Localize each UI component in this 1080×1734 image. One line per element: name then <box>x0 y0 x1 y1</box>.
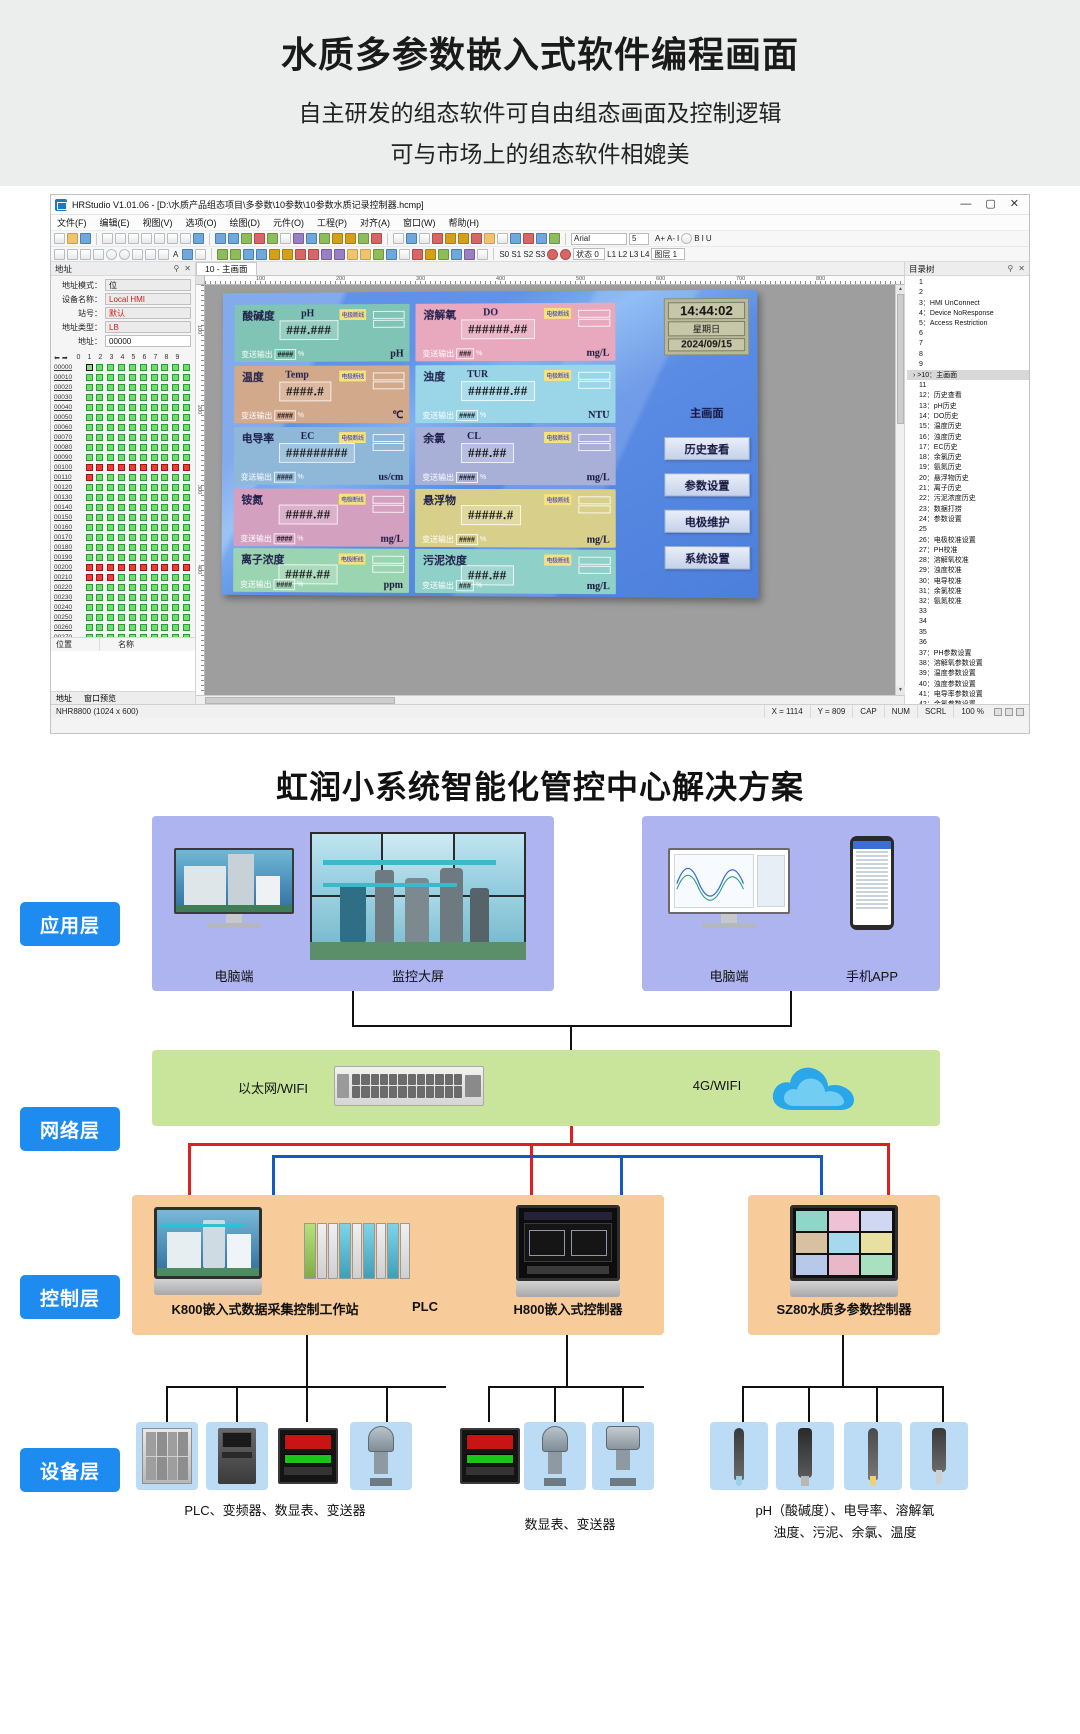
alarm-display-icon[interactable] <box>308 249 319 260</box>
grid-bit-cell[interactable] <box>127 623 138 632</box>
grid-bit-cell[interactable] <box>105 363 116 372</box>
grid-row[interactable]: 00020 <box>54 382 192 392</box>
grid-bit-cell[interactable] <box>181 473 192 482</box>
grid-bit-cell[interactable] <box>94 573 105 582</box>
tree-node[interactable]: 39：温度参数设置 <box>907 668 1029 678</box>
tree-node[interactable]: 28：溶解氧校准 <box>907 555 1029 565</box>
grid-bit-cell[interactable] <box>170 513 181 522</box>
tree-node[interactable]: 40：浊度参数设置 <box>907 679 1029 689</box>
grid-bit-cell[interactable] <box>94 413 105 422</box>
grid-row-label[interactable]: 00170 <box>54 534 84 541</box>
grid-bit-cell[interactable] <box>149 563 160 572</box>
grid-bit-cell[interactable] <box>127 373 138 382</box>
grid-bit-cell[interactable] <box>116 383 127 392</box>
tree-node[interactable]: 5：Access Restriction <box>907 318 1029 328</box>
pie-icon[interactable] <box>119 249 130 260</box>
grid-bit-cell[interactable] <box>138 433 149 442</box>
grid-bit-cell[interactable] <box>84 433 95 442</box>
grid-bit-cell[interactable] <box>84 363 95 372</box>
tree-node[interactable]: 17：EC历史 <box>907 442 1029 452</box>
maximize-icon[interactable]: ▢ <box>985 199 995 210</box>
grid-bit-cell[interactable] <box>105 543 116 552</box>
param-toggle-switch[interactable] <box>372 556 404 574</box>
grid-bit-cell[interactable] <box>94 623 105 632</box>
grid-bit-cell[interactable] <box>138 473 149 482</box>
grid-bit-cell[interactable] <box>84 403 95 412</box>
grid-bit-cell[interactable] <box>94 373 105 382</box>
grid-row[interactable]: 00130 <box>54 492 192 502</box>
macro-icon[interactable] <box>477 249 488 260</box>
italic2-button[interactable]: I <box>702 234 704 243</box>
grid-bit-cell[interactable] <box>138 373 149 382</box>
grid-bit-cell[interactable] <box>170 403 181 412</box>
grid-bit-cell[interactable] <box>149 533 160 542</box>
grid-bit-cell[interactable] <box>105 413 116 422</box>
grid-bit-cell[interactable] <box>149 453 160 462</box>
param-output-row[interactable]: 变送输出####% <box>240 533 303 544</box>
param-value-display[interactable]: ######.## <box>461 319 535 339</box>
grid-bit-cell[interactable] <box>149 393 160 402</box>
menu-help[interactable]: 帮助(H) <box>449 216 480 229</box>
bit-address-grid[interactable]: ⬅ ➡ 0123456789 0000000010000200003000040… <box>51 351 195 637</box>
grid-bit-cell[interactable] <box>149 513 160 522</box>
grid-bit-cell[interactable] <box>149 593 160 602</box>
grid-bit-cell[interactable] <box>84 593 95 602</box>
grid-bit-cell[interactable] <box>170 413 181 422</box>
field-value[interactable]: LB <box>105 321 191 333</box>
grid-bit-cell[interactable] <box>105 403 116 412</box>
grid-bit-cell[interactable] <box>170 613 181 622</box>
hmi-param-DO[interactable]: 溶解氧DO电极断线######.##mg/L变送输出###% <box>415 303 615 362</box>
grid-bit-cell[interactable] <box>116 503 127 512</box>
param-output-value[interactable]: ### <box>456 348 474 359</box>
tree-node[interactable]: 25 <box>907 524 1029 534</box>
grid-row-label[interactable]: 00260 <box>54 624 84 631</box>
tree-node[interactable]: 38：溶解氧参数设置 <box>907 658 1029 668</box>
grid-row-label[interactable]: 00080 <box>54 444 84 451</box>
zoom-out-icon[interactable] <box>994 708 1002 716</box>
align-right-icon[interactable] <box>241 233 252 244</box>
grid-bit-cell[interactable] <box>84 513 95 522</box>
param-toggle-switch[interactable] <box>578 557 610 575</box>
snap-icon[interactable] <box>510 233 521 244</box>
grid-bit-cell[interactable] <box>138 553 149 562</box>
grid-bit-cell[interactable] <box>138 453 149 462</box>
scroll-up-icon[interactable]: ▲ <box>896 285 905 294</box>
grid-bit-cell[interactable] <box>159 583 170 592</box>
hmi-param-CL[interactable]: 余氯CL电极断线###.##mg/L变送输出####% <box>415 427 615 485</box>
tree-node[interactable]: 27：PH校准 <box>907 545 1029 555</box>
grid-bit-cell[interactable] <box>170 573 181 582</box>
grid-row[interactable]: 00090 <box>54 452 192 462</box>
grid-row[interactable]: 00070 <box>54 432 192 442</box>
param-output-value[interactable]: #### <box>275 349 297 360</box>
tree-node[interactable]: 22：污泥浓度历史 <box>907 493 1029 503</box>
param-toggle-switch[interactable] <box>373 434 405 452</box>
tree-node[interactable]: 2 <box>907 287 1029 297</box>
rotate-icon[interactable] <box>293 233 304 244</box>
grid-row-label[interactable]: 00070 <box>54 434 84 441</box>
grid-row[interactable]: 00220 <box>54 582 192 592</box>
tree-node[interactable]: 16：浊度历史 <box>907 431 1029 441</box>
hmi-button-参数设置[interactable]: 参数设置 <box>664 473 750 496</box>
grid-row-label[interactable]: 00040 <box>54 404 84 411</box>
grid-bit-cell[interactable] <box>181 493 192 502</box>
grid-bit-cell[interactable] <box>94 493 105 502</box>
grid-row-label[interactable]: 00060 <box>54 424 84 431</box>
grid-icon[interactable] <box>497 233 508 244</box>
grid-bit-cell[interactable] <box>105 443 116 452</box>
cut-icon[interactable] <box>102 233 113 244</box>
main-toolbar[interactable]: Arial 5 A+ A- I B I U <box>51 231 1029 247</box>
grid-bit-cell[interactable] <box>159 563 170 572</box>
grid-bit-cell[interactable] <box>181 593 192 602</box>
tree-node[interactable]: 19：氨氮历史 <box>907 462 1029 472</box>
hmi-param-铵氮[interactable]: 铵氮电极断线####.##mg/L变送输出####% <box>233 489 409 547</box>
undo-icon[interactable] <box>141 233 152 244</box>
grid-bit-cell[interactable] <box>127 433 138 442</box>
grid-bit-cell[interactable] <box>84 613 95 622</box>
grid-row[interactable]: 00200 <box>54 562 192 572</box>
grid-bit-cell[interactable] <box>138 623 149 632</box>
font-size-select[interactable]: 5 <box>629 233 649 245</box>
grid-bit-cell[interactable] <box>138 513 149 522</box>
alarm-icon[interactable] <box>471 233 482 244</box>
grid-row[interactable]: 00190 <box>54 552 192 562</box>
grid-bit-cell[interactable] <box>105 613 116 622</box>
tab-address[interactable]: 地址 <box>56 693 72 704</box>
grid-bit-cell[interactable] <box>138 383 149 392</box>
grid-bit-cell[interactable] <box>127 453 138 462</box>
grid-row-label[interactable]: 00220 <box>54 584 84 591</box>
menu-draw[interactable]: 绘图(D) <box>230 216 261 229</box>
save-icon[interactable] <box>80 233 91 244</box>
tree-node[interactable]: 3：HMI UnConnect <box>907 298 1029 308</box>
tree-node[interactable]: 8 <box>907 349 1029 359</box>
grid-bit-cell[interactable] <box>94 433 105 442</box>
grid-bit-cell[interactable] <box>116 603 127 612</box>
param-value-display[interactable]: ###.## <box>461 443 514 463</box>
grid-bit-cell[interactable] <box>170 473 181 482</box>
grid-bit-cell[interactable] <box>105 593 116 602</box>
grid-row[interactable]: 00250 <box>54 612 192 622</box>
new-file-icon[interactable] <box>54 233 65 244</box>
toggle-switch-icon[interactable] <box>256 249 267 260</box>
grid-bit-cell[interactable] <box>181 513 192 522</box>
stop-icon[interactable] <box>371 233 382 244</box>
grid-row-label[interactable]: 00200 <box>54 564 84 571</box>
tree-node[interactable]: 4：Device NoResponse <box>907 308 1029 318</box>
grid-bit-cell[interactable] <box>181 393 192 402</box>
star-shape-icon[interactable] <box>145 249 156 260</box>
grid-row-label[interactable]: 00050 <box>54 414 84 421</box>
grid-bit-cell[interactable] <box>138 573 149 582</box>
grid-bit-cell[interactable] <box>159 373 170 382</box>
grid-bit-cell[interactable] <box>127 593 138 602</box>
grid-row-label[interactable]: 00150 <box>54 514 84 521</box>
grid-bit-cell[interactable] <box>116 453 127 462</box>
param-value-display[interactable]: ###.### <box>280 320 339 340</box>
grid-bit-cell[interactable] <box>105 423 116 432</box>
grid-bit-cell[interactable] <box>138 593 149 602</box>
field-station-no[interactable]: 站号： 默认 <box>55 307 191 319</box>
line-icon[interactable] <box>54 249 65 260</box>
grid-row[interactable]: 00050 <box>54 412 192 422</box>
state-select[interactable]: 状态 0 <box>573 248 605 260</box>
design-canvas[interactable]: 酸碱度pH电极断线###.###pH变送输出####%温度Temp电极断线###… <box>205 285 895 695</box>
param-value-display[interactable]: ######### <box>279 443 355 463</box>
grid-row-label[interactable]: 00100 <box>54 464 84 471</box>
hmi-button-系统设置[interactable]: 系统设置 <box>664 546 750 570</box>
grid-row[interactable]: 00080 <box>54 442 192 452</box>
grid-bit-cell[interactable] <box>84 623 95 632</box>
param-output-value[interactable]: ### <box>456 580 474 591</box>
layer-select[interactable]: 图层 1 <box>651 248 685 260</box>
grid-row[interactable]: 00110 <box>54 472 192 482</box>
grid-bit-cell[interactable] <box>94 383 105 392</box>
recipe-icon[interactable] <box>321 249 332 260</box>
grid-bit-cell[interactable] <box>127 443 138 452</box>
grid-bit-cell[interactable] <box>159 473 170 482</box>
grid-row-label[interactable]: 00180 <box>54 544 84 551</box>
grid-row[interactable]: 00010 <box>54 372 192 382</box>
grid-bit-cell[interactable] <box>84 423 95 432</box>
grid-bit-cell[interactable] <box>159 403 170 412</box>
grid-bit-cell[interactable] <box>170 383 181 392</box>
moving-shape-icon[interactable] <box>386 249 397 260</box>
grid-bit-cell[interactable] <box>149 383 160 392</box>
grid-bit-cell[interactable] <box>138 563 149 572</box>
paste-icon[interactable] <box>128 233 139 244</box>
zoom-in-icon[interactable] <box>1016 708 1024 716</box>
grid-bit-cell[interactable] <box>170 483 181 492</box>
grid-row-label[interactable]: 00190 <box>54 554 84 561</box>
grid-bit-cell[interactable] <box>149 483 160 492</box>
grid-bit-cell[interactable] <box>159 383 170 392</box>
grid-bit-cell[interactable] <box>116 493 127 502</box>
grid-bit-cell[interactable] <box>116 363 127 372</box>
grid-bit-cell[interactable] <box>170 493 181 502</box>
field-address-type[interactable]: 地址类型： LB <box>55 321 191 333</box>
grid-bit-cell[interactable] <box>116 513 127 522</box>
grid-bit-cell[interactable] <box>181 403 192 412</box>
panel-actions[interactable]: ⚲ ✕ <box>173 264 191 273</box>
tree-node[interactable]: 9 <box>907 359 1029 369</box>
grid-bit-cell[interactable] <box>94 403 105 412</box>
grid-row[interactable]: 00060 <box>54 422 192 432</box>
history-icon[interactable] <box>464 249 475 260</box>
grid-bit-cell[interactable] <box>138 463 149 472</box>
font-decrease-button[interactable]: A- <box>667 234 675 243</box>
grid-bit-cell[interactable] <box>127 483 138 492</box>
grid-bit-cell[interactable] <box>116 483 127 492</box>
grid-bit-cell[interactable] <box>94 473 105 482</box>
param-output-row[interactable]: 变送输出####% <box>241 349 304 360</box>
grid-bit-cell[interactable] <box>84 563 95 572</box>
grid-bit-cell[interactable] <box>116 403 127 412</box>
grid-bit-cell[interactable] <box>149 583 160 592</box>
grid-bit-cell[interactable] <box>170 373 181 382</box>
grid-bit-cell[interactable] <box>181 573 192 582</box>
grid-bit-cell[interactable] <box>116 553 127 562</box>
grid-row-label[interactable]: 00110 <box>54 474 84 481</box>
field-address-mode[interactable]: 地址模式： 位 <box>55 279 191 291</box>
font-name-select[interactable]: Arial <box>571 233 627 245</box>
grid-bit-cell[interactable] <box>170 463 181 472</box>
tree-node[interactable]: 33 <box>907 607 1029 617</box>
grid-bit-cell[interactable] <box>127 503 138 512</box>
grid-bit-cell[interactable] <box>181 563 192 572</box>
grid-row-label[interactable]: 00250 <box>54 614 84 621</box>
grid-bit-cell[interactable] <box>94 563 105 572</box>
grid-bit-cell[interactable] <box>84 603 95 612</box>
param-output-value[interactable]: #### <box>456 472 478 483</box>
grid-bit-cell[interactable] <box>94 503 105 512</box>
grid-bit-cell[interactable] <box>159 533 170 542</box>
hmi-screen[interactable]: 酸碱度pH电极断线###.###pH变送输出####%温度Temp电极断线###… <box>221 290 758 598</box>
hmi-param-离子浓度[interactable]: 离子浓度电极断线####.##ppm变送输出####% <box>233 548 409 593</box>
grid-bit-cell[interactable] <box>84 373 95 382</box>
canvas-vscrollbar[interactable]: ▲ ▼ <box>895 285 904 695</box>
grid-bit-cell[interactable] <box>159 453 170 462</box>
grid-bit-cell[interactable] <box>159 443 170 452</box>
grid-bit-cell[interactable] <box>170 593 181 602</box>
menu-bar[interactable]: 文件(F) 编辑(E) 视图(V) 选项(O) 绘图(D) 元件(O) 工程(P… <box>51 215 1029 231</box>
grid-bit-cell[interactable] <box>116 393 127 402</box>
grid-bit-cell[interactable] <box>127 523 138 532</box>
pin-icon[interactable] <box>167 233 178 244</box>
grid-bit-cell[interactable] <box>138 443 149 452</box>
grid-bit-cell[interactable] <box>127 553 138 562</box>
underline-button[interactable]: U <box>706 234 712 243</box>
grid-bit-cell[interactable] <box>116 623 127 632</box>
scale-icon[interactable] <box>158 249 169 260</box>
grid-bit-cell[interactable] <box>138 503 149 512</box>
tree-node[interactable]: 32：氨氮校准 <box>907 596 1029 606</box>
grid-bit-cell[interactable] <box>127 403 138 412</box>
grid-bit-cell[interactable] <box>170 423 181 432</box>
meter-icon[interactable] <box>334 249 345 260</box>
hscroll-thumb[interactable] <box>205 697 395 704</box>
tree-node[interactable]: 13：pH历史 <box>907 401 1029 411</box>
menu-align[interactable]: 对齐(A) <box>360 216 390 229</box>
redo-icon[interactable] <box>154 233 165 244</box>
grid-bit-cell[interactable] <box>84 533 95 542</box>
grid-row[interactable]: 00150 <box>54 512 192 522</box>
grid-bit-cell[interactable] <box>105 603 116 612</box>
tree-node[interactable]: 15：温度历史 <box>907 421 1029 431</box>
grid-bit-cell[interactable] <box>94 483 105 492</box>
grid-bit-cell[interactable] <box>159 483 170 492</box>
grid-bit-cell[interactable] <box>105 483 116 492</box>
tree-node[interactable]: 20：悬浮物历史 <box>907 473 1029 483</box>
grid-bit-cell[interactable] <box>149 433 160 442</box>
copy-icon[interactable] <box>115 233 126 244</box>
grid-bit-cell[interactable] <box>127 413 138 422</box>
hmi-button-电极维护[interactable]: 电极维护 <box>664 510 750 534</box>
grid-bit-cell[interactable] <box>181 443 192 452</box>
scroll-down-icon[interactable]: ▼ <box>896 686 905 695</box>
grid-bit-cell[interactable] <box>116 413 127 422</box>
grid-bit-cell[interactable] <box>170 533 181 542</box>
grid-row-label[interactable]: 00090 <box>54 454 84 461</box>
text-tool-icon[interactable]: A <box>171 250 180 259</box>
grid-nav[interactable]: ⬅ ➡ <box>54 354 70 362</box>
grid-bit-cell[interactable] <box>170 523 181 532</box>
param-toggle-switch[interactable] <box>372 496 404 514</box>
grid-bit-cell[interactable] <box>149 473 160 482</box>
grid-bit-cell[interactable] <box>84 443 95 452</box>
grid-bit-cell[interactable] <box>116 373 127 382</box>
grid-bit-cell[interactable] <box>127 423 138 432</box>
grid-bit-cell[interactable] <box>138 393 149 402</box>
grid-bit-cell[interactable] <box>170 443 181 452</box>
menu-project[interactable]: 工程(P) <box>317 216 347 229</box>
grid-bit-cell[interactable] <box>105 433 116 442</box>
slider-icon[interactable] <box>360 249 371 260</box>
grid-bit-cell[interactable] <box>105 553 116 562</box>
grid-bit-cell[interactable] <box>149 493 160 502</box>
grid-bit-cell[interactable] <box>116 543 127 552</box>
grid-bit-cell[interactable] <box>105 623 116 632</box>
param-output-value[interactable]: #### <box>273 579 295 590</box>
grid-bit-cell[interactable] <box>149 603 160 612</box>
select-cursor-icon[interactable] <box>193 233 204 244</box>
grid-bit-cell[interactable] <box>94 423 105 432</box>
param-output-value[interactable]: #### <box>274 472 296 483</box>
param-output-row[interactable]: 变送输出###% <box>422 348 482 359</box>
tree-node[interactable]: 21：离子历史 <box>907 483 1029 493</box>
text-color-icon[interactable] <box>681 233 692 244</box>
grid-bit-cell[interactable] <box>181 413 192 422</box>
grid-bit-cell[interactable] <box>105 503 116 512</box>
tree-node[interactable]: 34 <box>907 617 1029 627</box>
grid-bit-cell[interactable] <box>105 463 116 472</box>
grid-bit-cell[interactable] <box>116 563 127 572</box>
grid-row-label[interactable]: 00000 <box>54 364 84 371</box>
hmi-button-历史查看[interactable]: 历史查看 <box>664 437 750 460</box>
grid-bit-cell[interactable] <box>127 563 138 572</box>
hmi-param-Temp[interactable]: 温度Temp电极断线####.#℃变送输出####% <box>234 365 409 423</box>
tree-node[interactable]: 30：电导校准 <box>907 576 1029 586</box>
grid-bit-cell[interactable] <box>105 393 116 402</box>
grid-bit-cell[interactable] <box>181 523 192 532</box>
grid-bit-cell[interactable] <box>149 373 160 382</box>
grid-bit-cell[interactable] <box>116 423 127 432</box>
grid-row[interactable]: 00260 <box>54 622 192 632</box>
ascii-input-icon[interactable] <box>282 249 293 260</box>
grid-bit-cell[interactable] <box>170 433 181 442</box>
grid-row[interactable]: 00100 <box>54 462 192 472</box>
param-toggle-switch[interactable] <box>578 310 610 328</box>
grid-bit-cell[interactable] <box>149 413 160 422</box>
grid-bit-cell[interactable] <box>94 603 105 612</box>
grid-bit-cell[interactable] <box>127 533 138 542</box>
grid-row-label[interactable]: 00210 <box>54 574 84 581</box>
grid-bit-cell[interactable] <box>170 363 181 372</box>
zoom-slider[interactable] <box>1005 708 1013 716</box>
grid-rows[interactable]: 0000000010000200003000040000500006000070… <box>54 362 192 637</box>
grid-bit-cell[interactable] <box>181 423 192 432</box>
panel-close-icon[interactable]: ✕ <box>184 264 191 273</box>
tree-node[interactable]: 1 <box>907 277 1029 287</box>
grid-bit-cell[interactable] <box>181 503 192 512</box>
grid-bit-cell[interactable] <box>84 413 95 422</box>
grid-bit-cell[interactable] <box>159 363 170 372</box>
grid-row-label[interactable]: 00030 <box>54 394 84 401</box>
grid-row[interactable]: 00170 <box>54 532 192 542</box>
menu-file[interactable]: 文件(F) <box>57 216 87 229</box>
